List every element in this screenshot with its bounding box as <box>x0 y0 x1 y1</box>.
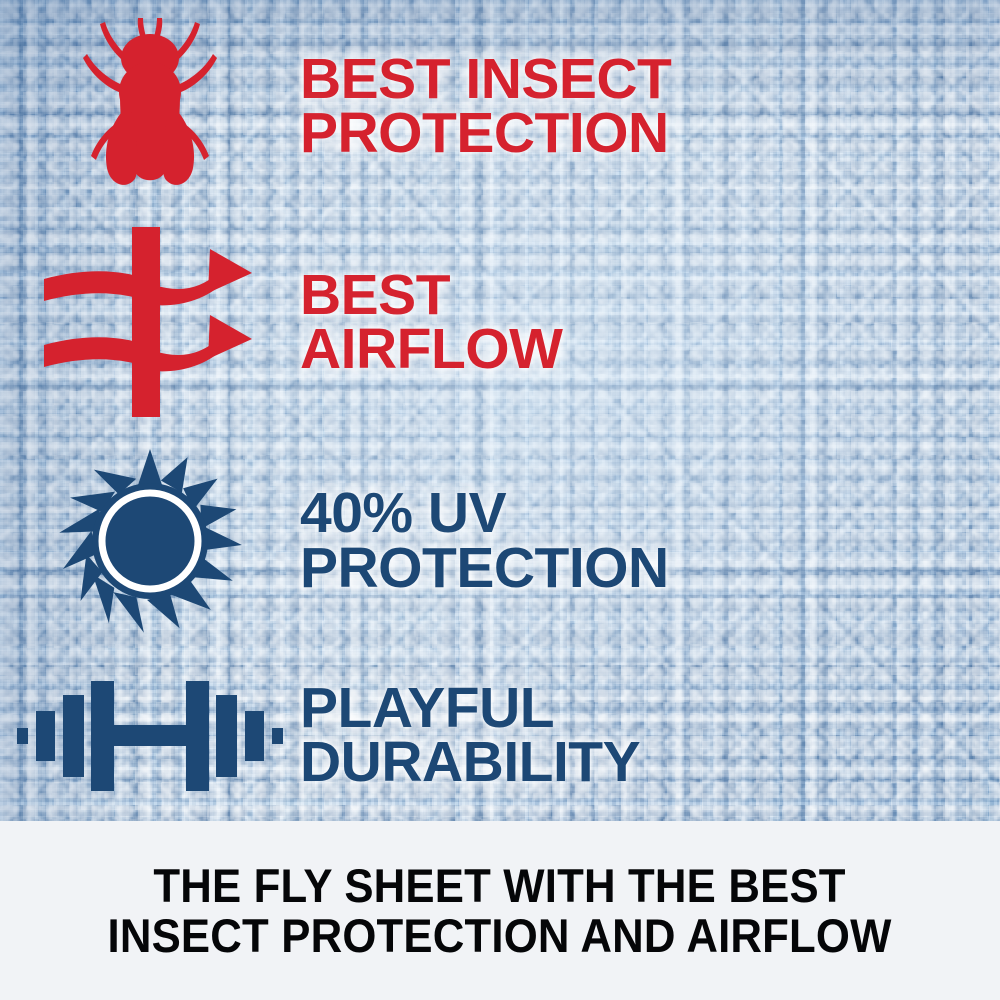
caption-headline: THE FLY SHEET WITH THE BEST INSECT PROTE… <box>108 861 892 961</box>
product-feature-infographic: BEST INSECT PROTECTION <box>0 0 1000 1000</box>
sun-uv-icon <box>0 446 300 636</box>
feature-label-durability: PLAYFUL DURABILITY <box>300 681 1000 789</box>
caption-bar: THE FLY SHEET WITH THE BEST INSECT PROTE… <box>0 821 1000 1000</box>
feature-row-durability: PLAYFUL DURABILITY <box>0 650 1000 820</box>
feature-label-insect-protection: BEST INSECT PROTECTION <box>300 52 1000 160</box>
fly-icon <box>0 14 300 199</box>
airflow-icon <box>0 227 300 417</box>
feature-row-insect-protection: BEST INSECT PROTECTION <box>0 6 1000 206</box>
feature-label-uv-protection: 40% UV PROTECTION <box>300 486 1000 594</box>
feature-list: BEST INSECT PROTECTION <box>0 0 1000 821</box>
dumbbell-icon <box>0 673 300 798</box>
feature-label-airflow: BEST AIRFLOW <box>300 268 1000 376</box>
feature-row-uv-protection: 40% UV PROTECTION <box>0 438 1000 643</box>
feature-row-airflow: BEST AIRFLOW <box>0 222 1000 422</box>
